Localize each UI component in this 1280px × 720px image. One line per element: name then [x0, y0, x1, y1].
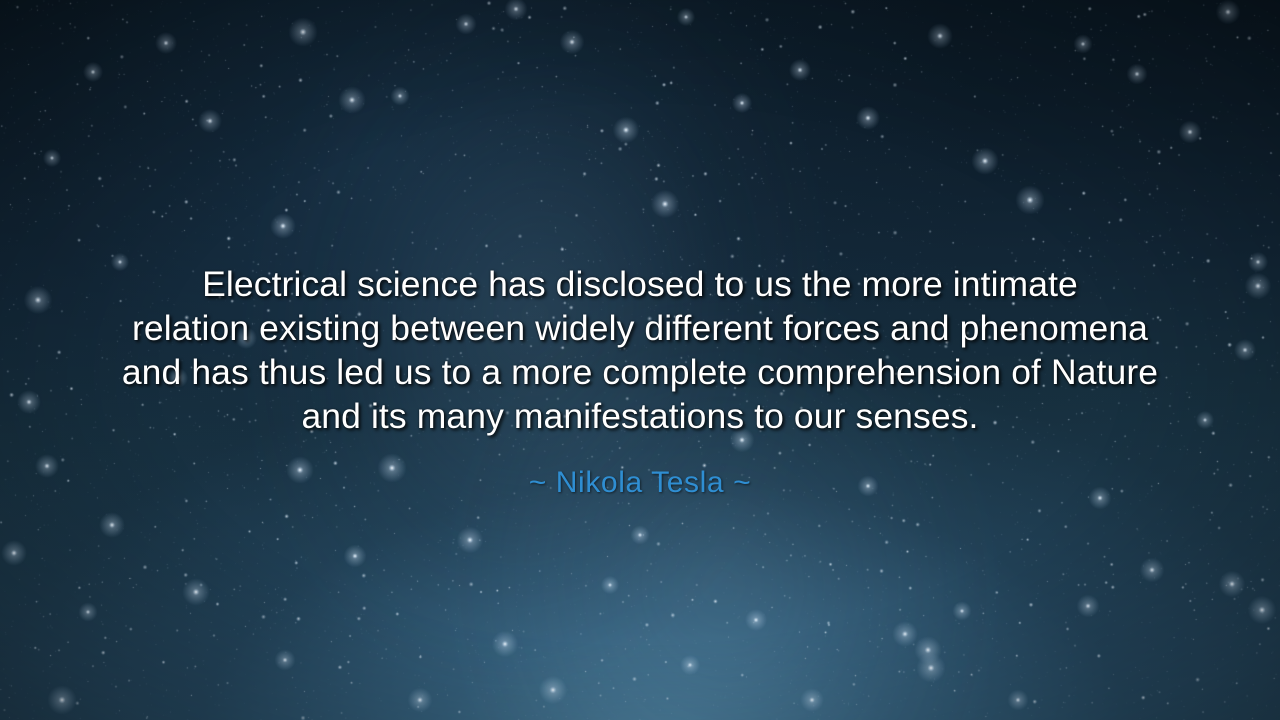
- quote-text: Electrical science has disclosed to us t…: [40, 262, 1240, 438]
- quote-block: Electrical science has disclosed to us t…: [0, 262, 1280, 501]
- quote-slide: Electrical science has disclosed to us t…: [0, 0, 1280, 720]
- quote-attribution: ~ Nikola Tesla ~: [40, 438, 1240, 501]
